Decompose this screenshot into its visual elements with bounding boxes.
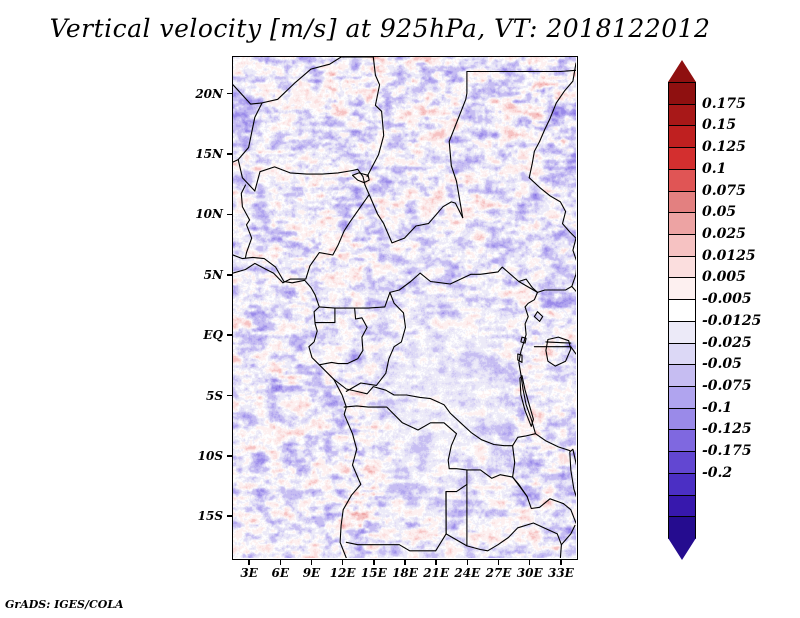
x-axis-label: 6E — [272, 566, 290, 580]
colorbar-tick-label: 0.15 — [702, 117, 736, 133]
map-boundary-path — [233, 57, 341, 104]
x-axis-label: 12E — [330, 566, 356, 580]
map-boundary-path — [467, 470, 513, 478]
y-axis-label: 5S — [185, 389, 223, 403]
colorbar-arrow-min-icon — [668, 538, 696, 560]
footer-credit: GrADS: IGES/COLA — [5, 598, 124, 611]
colorbar-tick-label: 0.125 — [702, 139, 746, 155]
map-boundary-path — [446, 523, 561, 558]
colorbar-legend: 0.1750.150.1250.10.0750.050.0250.01250.0… — [668, 60, 696, 560]
colorbar-arrow-max-icon — [668, 60, 696, 82]
colorbar-swatch — [668, 451, 696, 474]
map-plot-area — [232, 56, 578, 560]
colorbar-swatch — [668, 343, 696, 366]
map-boundary-path — [570, 449, 576, 499]
y-axis-label: 20N — [185, 87, 223, 101]
colorbar-tick-label: 0.0125 — [702, 248, 756, 264]
colorbar-tick-label: 0.1 — [702, 161, 726, 177]
x-axis-label: 15E — [361, 566, 387, 580]
map-boundary-path — [315, 307, 335, 323]
colorbar-tick-label: -0.075 — [702, 378, 752, 394]
map-boundary-path — [449, 72, 467, 218]
y-axis-label: 15N — [185, 147, 223, 161]
x-axis-label: 3E — [240, 566, 258, 580]
colorbar-swatch — [668, 516, 696, 539]
colorbar-tick-label: -0.125 — [702, 421, 752, 437]
x-axis-label: 24E — [454, 566, 480, 580]
map-boundary-path — [529, 63, 576, 178]
map-borders-overlay — [233, 57, 576, 558]
map-boundary-path — [467, 70, 576, 71]
y-axis-label: 5N — [185, 268, 223, 282]
colorbar-swatch — [668, 191, 696, 214]
map-boundary-path — [369, 195, 463, 243]
map-boundary-path — [513, 477, 564, 508]
map-boundary-path — [546, 342, 571, 343]
colorbar-tick-label: 0.025 — [702, 226, 746, 242]
y-axis-tick — [227, 395, 232, 397]
colorbar-tick-label: 0.175 — [702, 96, 746, 112]
x-axis-tick — [529, 560, 531, 565]
map-boundary-path — [536, 434, 570, 451]
x-axis-tick — [373, 560, 375, 565]
colorbar-swatch — [668, 212, 696, 235]
y-axis-tick — [227, 455, 232, 457]
x-axis-tick — [280, 560, 282, 565]
colorbar-tick-label: 0.05 — [702, 204, 736, 220]
map-boundary-path — [519, 279, 538, 292]
map-boundary-path — [525, 292, 537, 307]
map-boundary-path — [344, 406, 467, 485]
x-axis-label: 18E — [392, 566, 418, 580]
colorbar-swatch — [668, 169, 696, 192]
map-boundary-path — [255, 167, 358, 191]
map-boundary-path — [238, 160, 255, 191]
x-axis-label: 9E — [303, 566, 321, 580]
x-axis-tick — [404, 560, 406, 565]
colorbar-tick-label: -0.2 — [702, 465, 732, 481]
map-boundary-path — [561, 525, 575, 544]
map-boundary-path — [572, 238, 576, 291]
y-axis-label: 10N — [185, 207, 223, 221]
x-axis-tick — [248, 560, 250, 565]
colorbar-swatch — [668, 299, 696, 322]
colorbar-swatch — [668, 125, 696, 148]
x-axis-tick — [311, 560, 313, 565]
x-axis-tick — [467, 560, 469, 565]
map-boundary-path — [385, 267, 538, 307]
map-boundary-path — [534, 312, 542, 322]
colorbar-swatch — [668, 82, 696, 105]
map-boundary-path — [319, 307, 385, 365]
page-title: Vertical velocity [m/s] at 925hPa, VT: 2… — [0, 14, 760, 43]
colorbar-swatch — [668, 495, 696, 518]
colorbar-swatch — [668, 234, 696, 257]
map-boundary-path — [341, 57, 384, 177]
colorbar-tick-label: -0.05 — [702, 356, 742, 372]
y-axis-label: 15S — [185, 509, 223, 523]
colorbar-tick-label: 0.075 — [702, 183, 746, 199]
y-axis-tick — [227, 334, 232, 336]
x-axis-label: 33E — [548, 566, 574, 580]
map-boundary-path — [529, 178, 576, 238]
y-axis-tick — [227, 93, 232, 95]
x-axis-label: 21E — [423, 566, 449, 580]
x-axis-tick — [498, 560, 500, 565]
y-axis-label: 10S — [185, 449, 223, 463]
map-boundary-path — [241, 185, 251, 257]
x-axis-tick — [560, 560, 562, 565]
map-boundary-path — [513, 307, 536, 497]
x-axis-label: 30E — [517, 566, 543, 580]
y-axis-tick — [227, 515, 232, 517]
colorbar-tick-label: -0.0125 — [702, 313, 761, 329]
map-boundary-path — [521, 337, 526, 343]
map-boundary-path — [546, 337, 571, 366]
colorbar-swatch — [668, 321, 696, 344]
grads-chart-page: Vertical velocity [m/s] at 925hPa, VT: 2… — [0, 0, 800, 618]
colorbar-tick-label: -0.005 — [702, 291, 752, 307]
x-axis-label: 27E — [486, 566, 512, 580]
y-axis-tick — [227, 153, 232, 155]
colorbar-swatch — [668, 364, 696, 387]
colorbar-swatch — [668, 104, 696, 127]
map-boundary-path — [283, 169, 369, 282]
y-axis-tick — [227, 274, 232, 276]
colorbar-swatch — [668, 277, 696, 300]
colorbar-swatch — [668, 256, 696, 279]
colorbar-tick-label: -0.025 — [702, 335, 752, 351]
colorbar-swatch — [668, 147, 696, 170]
colorbar-swatch — [668, 429, 696, 452]
colorbar-tick-label: 0.005 — [702, 269, 746, 285]
colorbar-swatch — [668, 408, 696, 431]
colorbar-swatch — [668, 473, 696, 496]
map-boundary-path — [233, 255, 361, 558]
x-axis-tick — [435, 560, 437, 565]
colorbar-swatch — [668, 386, 696, 409]
map-boundary-path — [233, 103, 262, 162]
map-boundary-path — [334, 379, 513, 445]
colorbar-tick-label: -0.1 — [702, 400, 732, 416]
map-boundary-path — [538, 286, 572, 292]
map-boundary-path — [346, 484, 467, 550]
colorbar-tick-label: -0.175 — [702, 443, 752, 459]
y-axis-tick — [227, 214, 232, 216]
x-axis-tick — [342, 560, 344, 565]
y-axis-label: EQ — [185, 328, 223, 342]
